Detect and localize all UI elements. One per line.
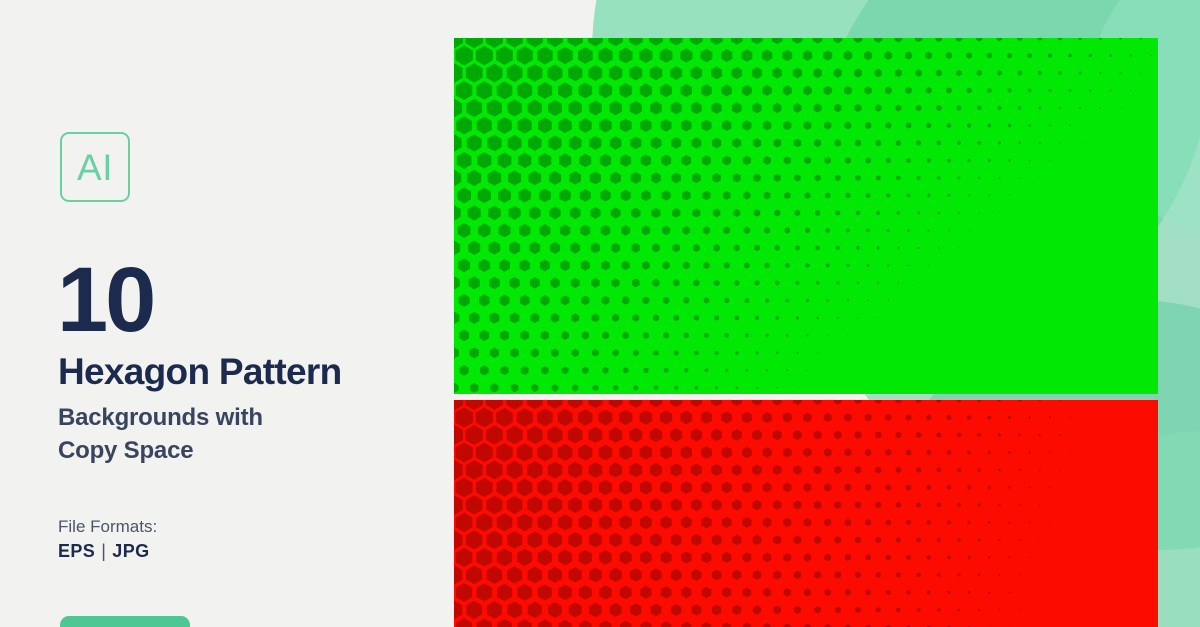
cta-pill[interactable] — [60, 616, 190, 627]
red-halftone-svg — [454, 400, 1158, 627]
file-formats-label: File Formats: — [58, 516, 157, 538]
format-eps: EPS — [58, 541, 95, 561]
preview-canvas: AI 10 Hexagon Pattern Backgrounds with C… — [0, 0, 1200, 627]
page-subtitle: Backgrounds with Copy Space — [58, 401, 263, 467]
item-count: 10 — [57, 258, 153, 343]
green-hexagon-panel — [454, 38, 1158, 394]
ai-badge-label: AI — [77, 149, 113, 186]
format-separator: | — [95, 541, 112, 561]
green-halftone-svg — [454, 38, 1158, 394]
ai-format-badge: AI — [60, 132, 130, 202]
file-formats-value: EPS|JPG — [58, 540, 150, 563]
red-hexagon-panel — [454, 400, 1158, 627]
page-title: Hexagon Pattern — [58, 352, 342, 392]
subtitle-line-2: Copy Space — [58, 434, 263, 467]
subtitle-line-1: Backgrounds with — [58, 401, 263, 434]
format-jpg: JPG — [112, 541, 149, 561]
info-column: AI 10 Hexagon Pattern Backgrounds with C… — [0, 0, 454, 627]
